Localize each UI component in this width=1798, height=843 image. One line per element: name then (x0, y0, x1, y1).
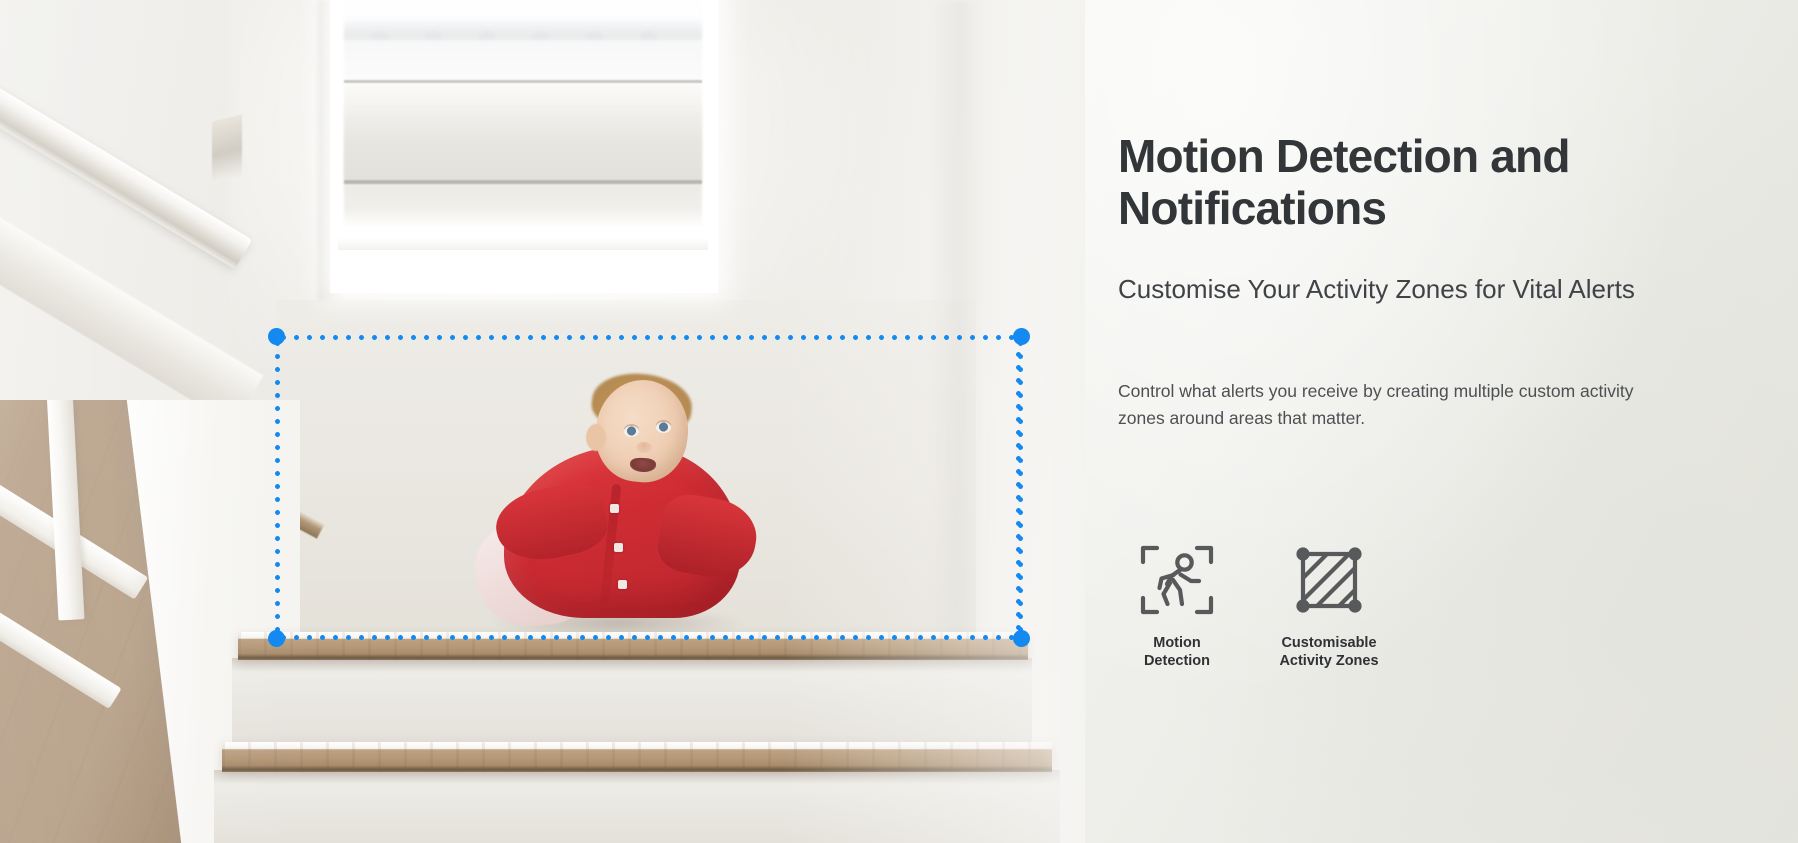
feature-list: Motion Detection (1118, 540, 1388, 670)
stair-riser (214, 770, 1060, 843)
zone-edge-bottom[interactable] (277, 635, 1021, 640)
zone-handle-top-right[interactable] (1013, 328, 1030, 345)
feature-label: Customisable Activity Zones (1279, 634, 1378, 670)
riser-shadow (214, 770, 1060, 784)
motion-detection-icon (1137, 540, 1217, 620)
zone-edge-top[interactable] (277, 335, 1021, 340)
customisable-activity-zones-icon (1289, 540, 1369, 620)
window-rail-lower (344, 180, 702, 184)
stair-tread (222, 742, 1052, 772)
feature-motion-detection: Motion Detection (1118, 540, 1236, 670)
wood-grain (222, 742, 1052, 772)
zone-edge-left[interactable] (275, 337, 280, 638)
window-lower-pane (344, 84, 702, 180)
activity-zone-selection[interactable] (277, 337, 1021, 638)
stair-riser (232, 658, 1032, 744)
riser-shadow (232, 658, 1032, 672)
page-title: Motion Detection and Notifications (1118, 130, 1758, 235)
window-sill (338, 238, 708, 250)
feature-banner: Motion Detection and Notifications Custo… (0, 0, 1798, 843)
feature-label: Motion Detection (1144, 634, 1210, 670)
window (330, 0, 718, 293)
handrail-end-cap (212, 114, 242, 183)
page-description: Control what alerts you receive by creat… (1118, 378, 1638, 432)
feature-customisable-activity-zones: Customisable Activity Zones (1270, 540, 1388, 670)
zone-handle-top-left[interactable] (268, 328, 285, 345)
window-valance (344, 18, 702, 40)
window-rail-upper (344, 80, 702, 83)
content-panel: Motion Detection and Notifications Custo… (1085, 0, 1798, 843)
zone-handle-bottom-left[interactable] (268, 630, 285, 647)
zone-edge-right[interactable] (1018, 337, 1023, 638)
page-subtitle: Customise Your Activity Zones for Vital … (1118, 272, 1678, 308)
zone-handle-bottom-right[interactable] (1013, 630, 1030, 647)
